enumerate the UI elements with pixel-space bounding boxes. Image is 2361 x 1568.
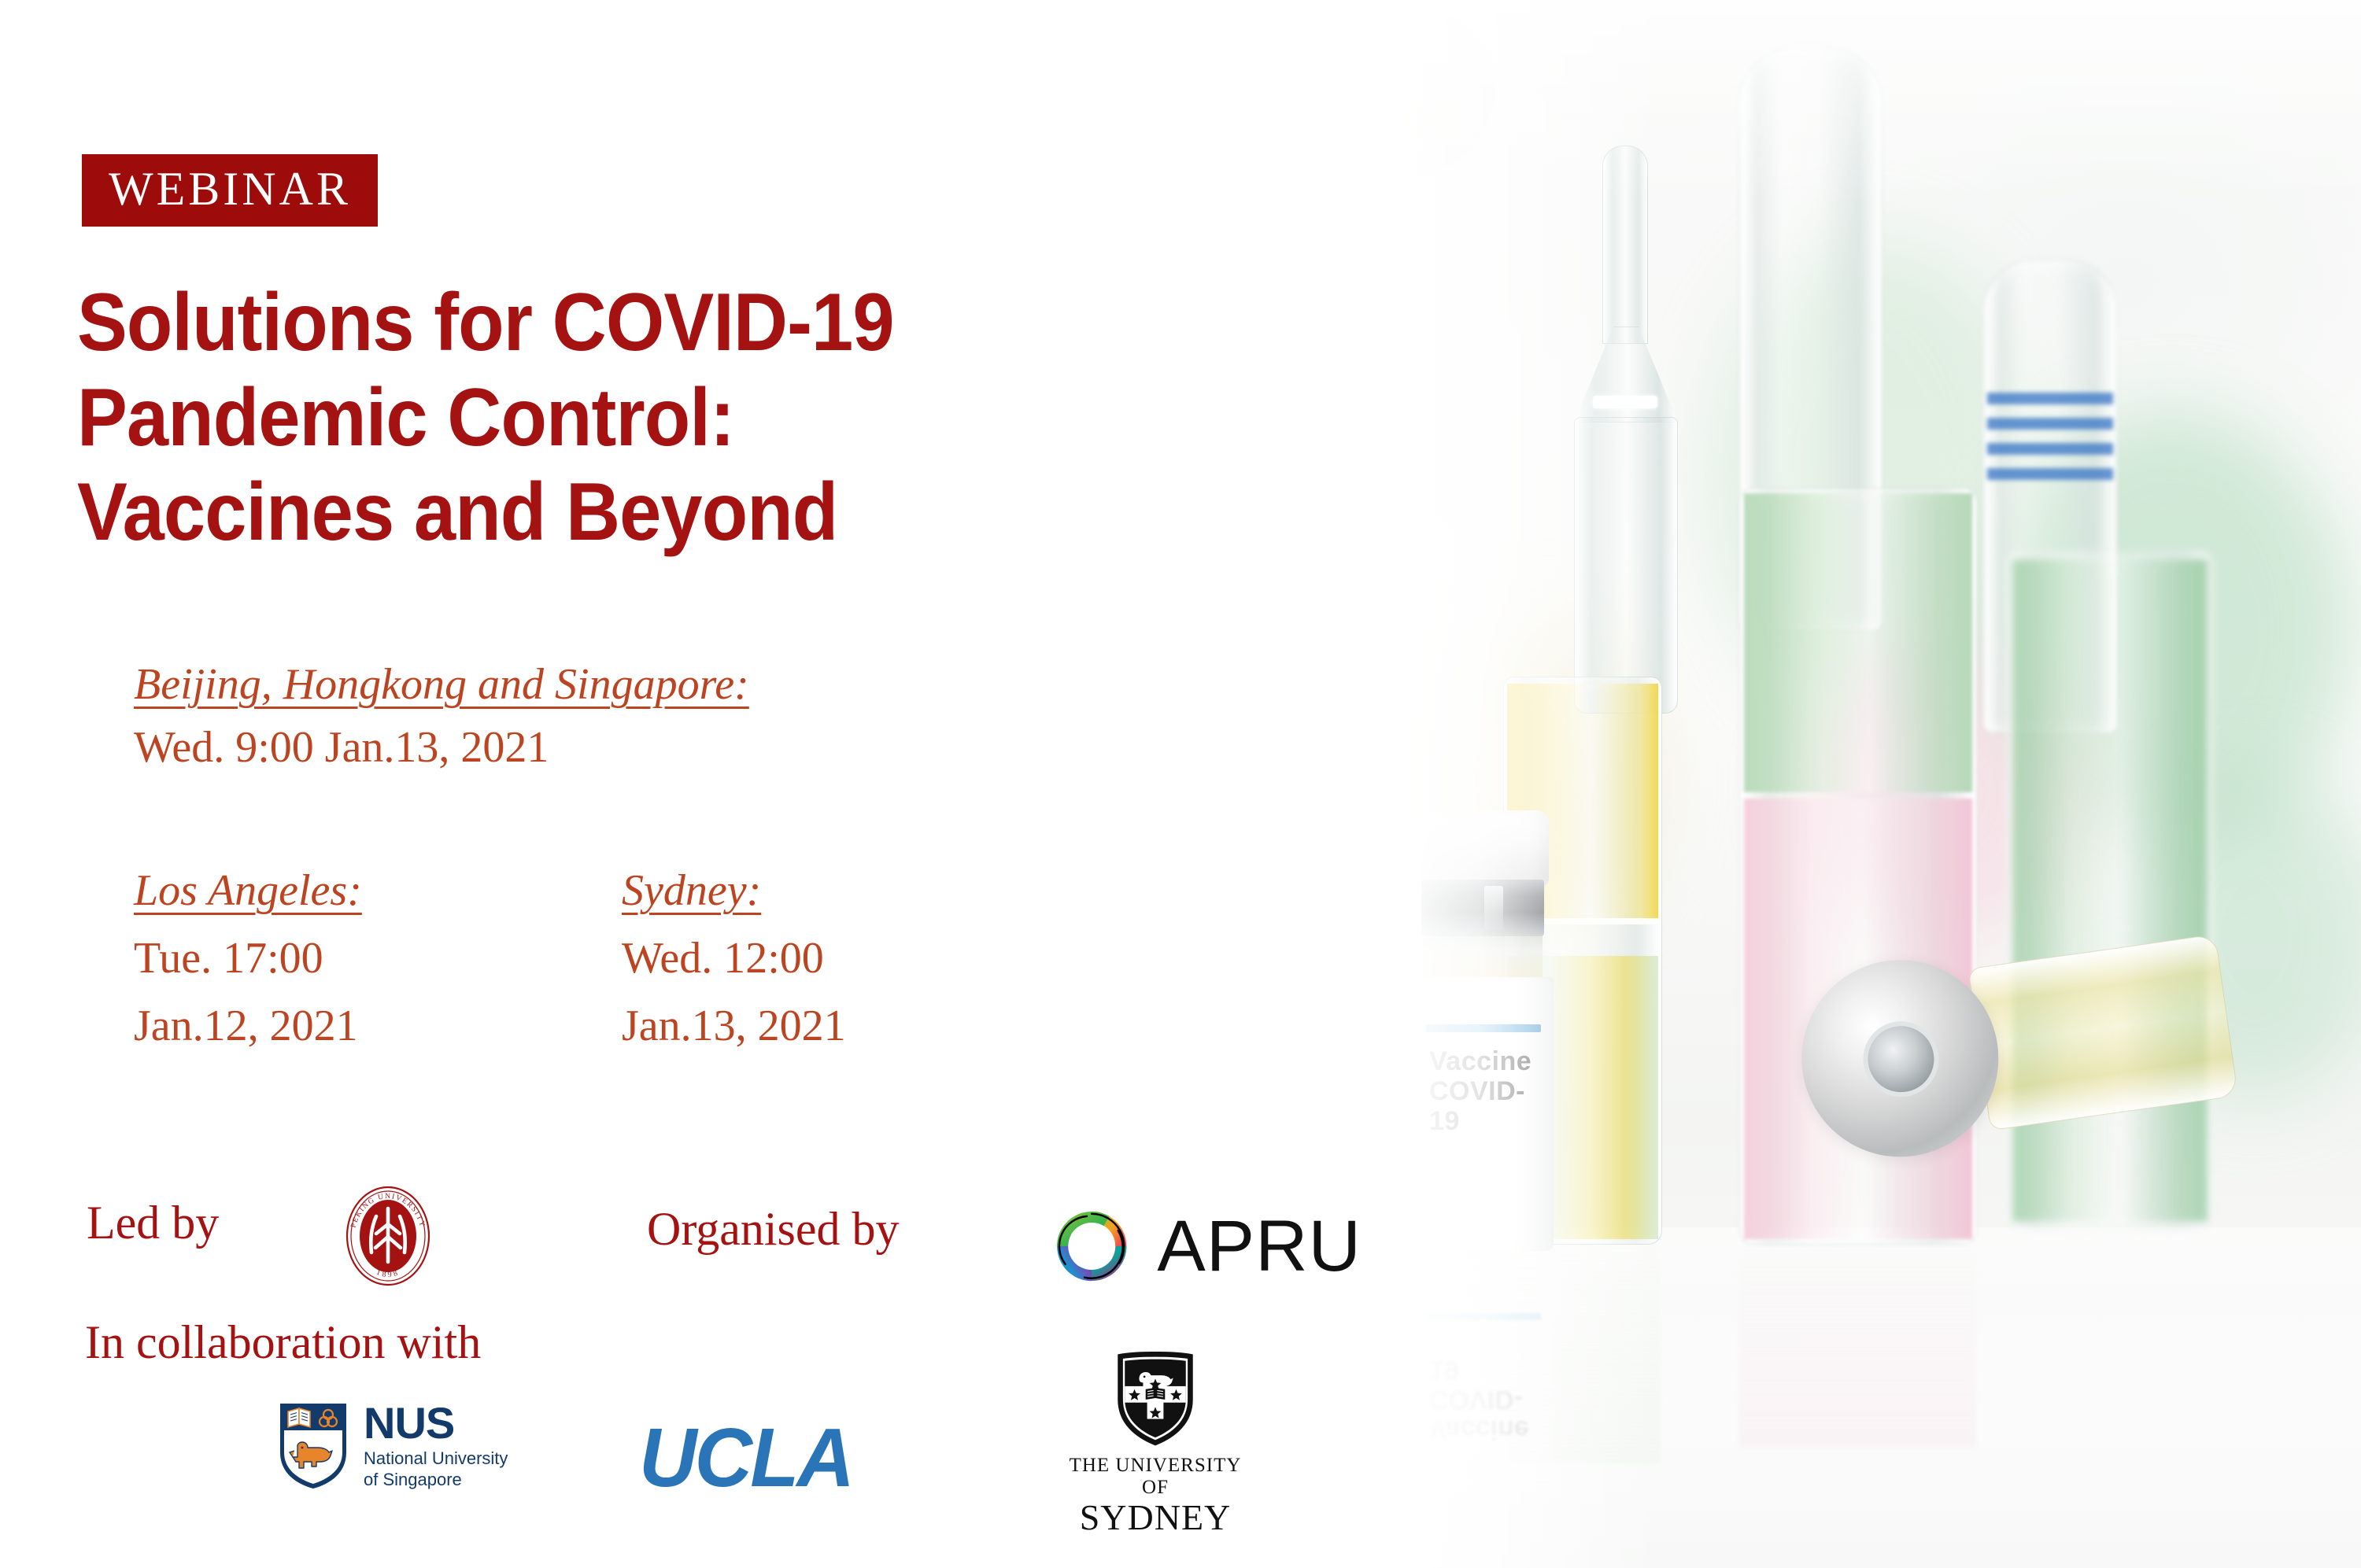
led-by-label: Led by <box>87 1196 219 1250</box>
nus-subtitle-line1: National University <box>364 1448 508 1468</box>
apru-logo: APRU <box>1047 1186 1362 1306</box>
webinar-poster: Vaccine COVID-19 Vaccine COVID-19 WEBINA… <box>0 0 2361 1568</box>
nus-shield-icon <box>277 1400 349 1492</box>
sydney-label-main: SYDNEY <box>1069 1499 1242 1537</box>
nus-acronym: NUS <box>364 1402 508 1444</box>
ampoule-stripe <box>1987 418 2113 430</box>
organised-by-label: Organised by <box>647 1202 900 1256</box>
sydney-shield-icon <box>1114 1352 1196 1446</box>
vaccine-photo: Vaccine COVID-19 Vaccine COVID-19 <box>1299 0 2361 1568</box>
partners-section: Led by Organised by In collaboration wit… <box>0 0 1385 1568</box>
sydney-label-top: THE UNIVERSITY OF <box>1069 1455 1242 1499</box>
ucla-logo: UCLA <box>639 1416 852 1500</box>
ampoule-stripe <box>1987 468 2113 480</box>
photo-top-fade <box>1299 0 2361 205</box>
collaboration-label: In collaboration with <box>85 1315 481 1370</box>
university-of-sydney-logo: THE UNIVERSITY OF SYDNEY <box>1069 1352 1242 1537</box>
apru-ring-icon <box>1047 1189 1136 1304</box>
nus-subtitle: National University of Singapore <box>364 1448 508 1490</box>
tipped-vial-body <box>1967 934 2238 1131</box>
ampoule-stripe <box>1987 393 2113 404</box>
pink-bottle-reflection <box>1739 1243 1975 1448</box>
poster-content: WEBINAR Solutions for COVID-19 Pandemic … <box>0 0 1385 1568</box>
bottle-upper-tint <box>1744 493 1972 792</box>
nus-text-block: NUS National University of Singapore <box>364 1402 508 1491</box>
nus-subtitle-line2: of Singapore <box>364 1470 462 1489</box>
ampoule-stripe <box>1987 443 2113 455</box>
nus-logo: NUS National University of Singapore <box>277 1399 513 1493</box>
apru-wordmark: APRU <box>1157 1210 1362 1282</box>
peking-university-logo: PEKING UNIVERSITY 1898 <box>337 1180 439 1292</box>
